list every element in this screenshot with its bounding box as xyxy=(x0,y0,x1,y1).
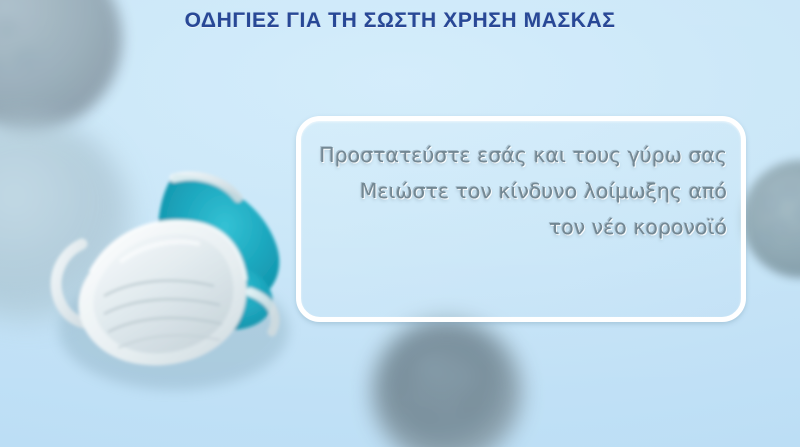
page-title: ΟΔΗΓΙΕΣ ΓΙΑ ΤΗ ΣΩΣΤΗ ΧΡΗΣΗ ΜΑΣΚΑΣ xyxy=(0,9,800,33)
slide-frame: ΟΔΗΓΙΕΣ ΓΙΑ ΤΗ ΣΩΣΤΗ ΧΡΗΣΗ ΜΑΣΚΑΣ Προστα… xyxy=(0,0,800,447)
message-lines: Προστατεύστε εσάς και τους γύρω σας Μειώ… xyxy=(313,137,727,245)
surgical-mask-icon xyxy=(24,152,324,402)
message-line-3: τον νέο κορονοϊό xyxy=(313,209,727,245)
message-line-1: Προστατεύστε εσάς και τους γύρω σας xyxy=(313,137,727,173)
message-panel: Προστατεύστε εσάς και τους γύρω σας Μειώ… xyxy=(296,116,746,322)
message-line-2: Μειώστε τον κίνδυνο λοίμωξης από xyxy=(313,173,727,209)
